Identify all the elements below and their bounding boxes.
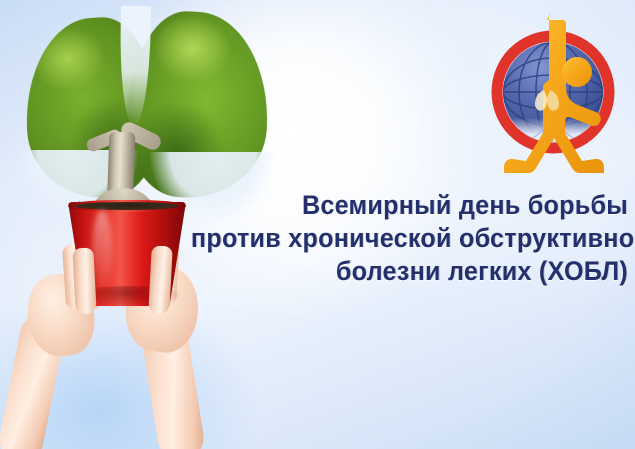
headline: Всемирный день борьбы против хронической… <box>158 189 628 288</box>
poster-canvas: Всемирный день борьбы против хронической… <box>0 0 635 449</box>
logo-svg <box>478 14 630 184</box>
pot-highlight <box>92 210 112 288</box>
headline-line-1: Всемирный день борьбы <box>191 189 628 222</box>
left-thumb <box>72 247 96 314</box>
headline-line-3: болезни легких (ХОБЛ) <box>191 255 628 288</box>
left-hand <box>18 258 78 449</box>
logo-figure-head <box>562 57 592 87</box>
headline-line-2: против хронической обструктивной <box>191 222 628 255</box>
gold-logo <box>478 14 630 184</box>
